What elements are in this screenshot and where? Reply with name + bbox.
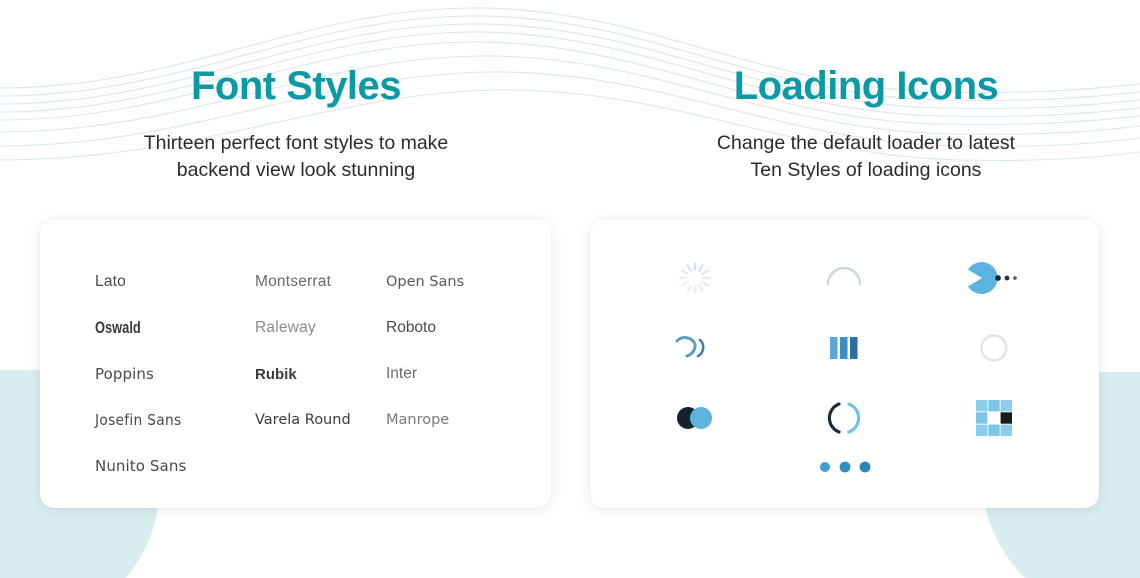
grid-spinner-icon[interactable] bbox=[964, 388, 1024, 448]
font-item-varela-round[interactable]: Varela Round bbox=[255, 412, 386, 428]
font-styles-subheading-line2: backend view look stunning bbox=[0, 157, 592, 184]
font-styles-heading: Font Styles bbox=[0, 62, 592, 110]
font-list-grid: Lato Montserrat Open Sans Oswald Raleway… bbox=[95, 259, 515, 489]
loading-icons-card bbox=[590, 219, 1099, 508]
font-item-lato[interactable]: Lato bbox=[95, 273, 255, 291]
font-item-oswald[interactable]: Oswald bbox=[95, 319, 220, 338]
loading-icons-subheading-line1: Change the default loader to latest bbox=[592, 130, 1140, 157]
font-item-inter[interactable]: Inter bbox=[386, 365, 515, 383]
spoke-spinner-icon[interactable] bbox=[665, 248, 725, 308]
font-item-josefin-sans[interactable]: Josefin Sans bbox=[95, 411, 242, 429]
loading-icons-subheading-line2: Ten Styles of loading icons bbox=[592, 157, 1140, 184]
font-item-manrope[interactable]: Manrope bbox=[386, 412, 515, 428]
font-item-poppins[interactable]: Poppins bbox=[95, 365, 255, 383]
loading-icons-subheading: Change the default loader to latest Ten … bbox=[592, 130, 1140, 184]
font-item-nunito-sans[interactable]: Nunito Sans bbox=[95, 457, 255, 475]
font-item-rubik[interactable]: Rubik bbox=[255, 366, 386, 383]
loader-icon-grid bbox=[620, 243, 1069, 453]
font-styles-subheading: Thirteen perfect font styles to make bac… bbox=[0, 130, 592, 184]
font-styles-panel: Font Styles Thirteen perfect font styles… bbox=[0, 0, 592, 578]
font-item-open-sans[interactable]: Open Sans bbox=[386, 274, 515, 290]
ring-spinner-icon[interactable] bbox=[964, 318, 1024, 378]
font-item-montserrat[interactable]: Montserrat bbox=[255, 273, 386, 291]
font-item-roboto[interactable]: Roboto bbox=[386, 319, 515, 337]
font-styles-card: Lato Montserrat Open Sans Oswald Raleway… bbox=[40, 219, 551, 508]
font-item-raleway[interactable]: Raleway bbox=[255, 319, 386, 337]
dual-arc-spinner-icon[interactable] bbox=[665, 318, 725, 378]
pacman-spinner-icon[interactable] bbox=[964, 248, 1024, 308]
three-dots-spinner-icon[interactable] bbox=[815, 437, 875, 497]
bars-spinner-icon[interactable] bbox=[814, 318, 874, 378]
loading-icons-heading: Loading Icons bbox=[592, 62, 1140, 110]
two-circles-spinner-icon[interactable] bbox=[665, 388, 725, 448]
font-styles-subheading-line1: Thirteen perfect font styles to make bbox=[0, 130, 592, 157]
loader-icon-grid-row4 bbox=[590, 447, 1099, 487]
arc-spinner-icon[interactable] bbox=[814, 248, 874, 308]
page-canvas: Font Styles Thirteen perfect font styles… bbox=[0, 0, 1140, 578]
